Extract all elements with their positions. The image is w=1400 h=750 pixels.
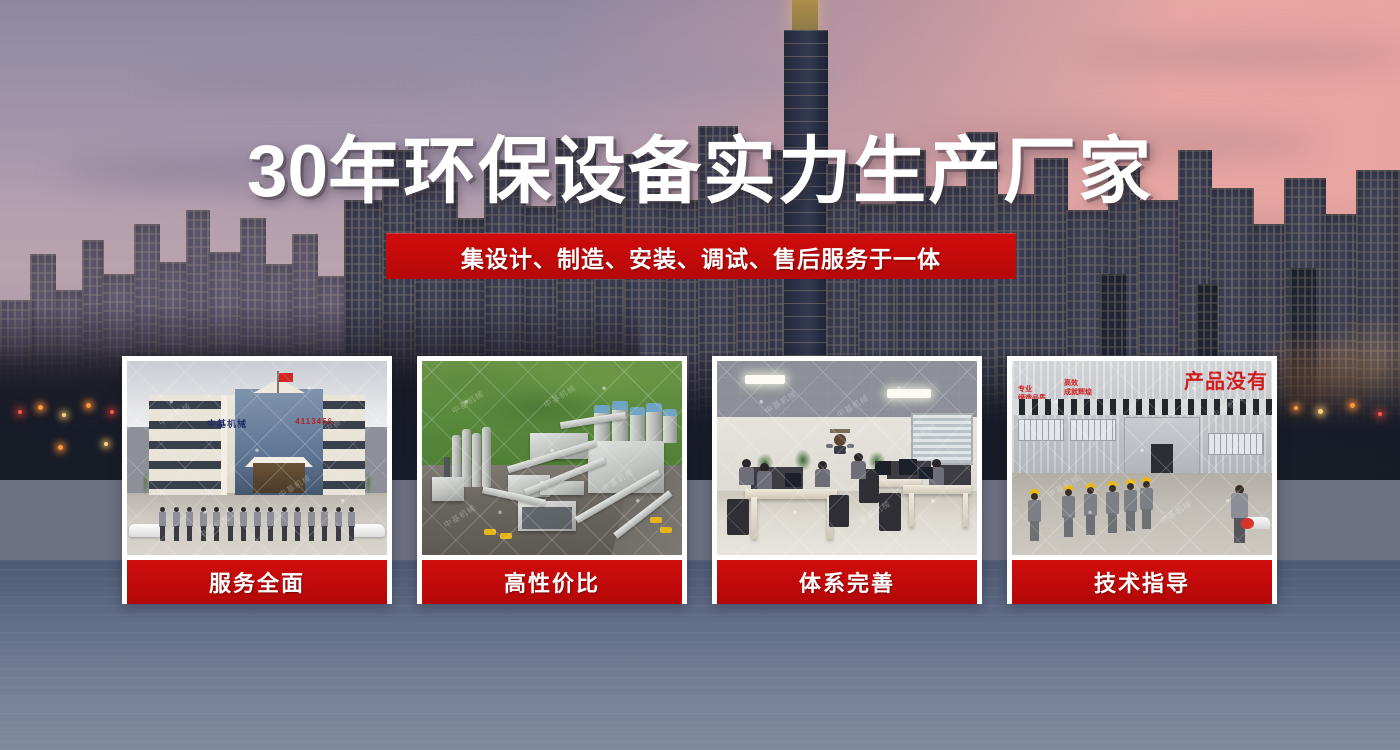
card-caption-bar: 服务全面 — [127, 560, 387, 604]
company-headquarters-photo: 中基机械 4113456 — [127, 361, 387, 555]
feature-card[interactable]: 产品没有 专业缔造品质 高效成就辉煌 中基机械 — [1007, 356, 1277, 604]
technical-training-photo: 产品没有 专业缔造品质 高效成就辉煌 中基机械 — [1012, 361, 1272, 555]
card-caption-bar: 技术指导 — [1012, 560, 1272, 604]
headline-text: 年环保设备实力生产厂家 — [328, 131, 1153, 212]
subtitle-text: 集设计、制造、安装、调试、售后服务于一体 — [461, 240, 941, 274]
production-plant-aerial-photo: 中基机械 中基机械 中基机械 中基机械 — [422, 361, 682, 555]
feature-card[interactable]: 中基机械 中基机械 中基机械 中基机械 体系完善 — [712, 356, 982, 604]
feature-card[interactable]: 中基机械 中基机械 中基机械 中基机械 高性价比 — [417, 356, 687, 604]
subtitle-banner: 集设计、制造、安装、调试、售后服务于一体 — [386, 233, 1016, 279]
card-caption-bar: 高性价比 — [422, 560, 682, 604]
tower-crown-lights — [792, 0, 818, 30]
building-phone-text: 4113456 — [295, 417, 333, 426]
card-caption-text: 服务全面 — [209, 566, 305, 598]
staff-row — [159, 507, 355, 541]
hero-banner: 30年环保设备实力生产厂家 集设计、制造、安装、调试、售后服务于一体 — [0, 0, 1400, 750]
factory-slogan-large: 产品没有 — [1184, 365, 1268, 394]
card-caption-text: 高性价比 — [504, 566, 600, 598]
feature-card-row: 中基机械 4113456 — [122, 356, 1278, 604]
card-caption-bar: 体系完善 — [717, 560, 977, 604]
headline-number: 30 — [247, 131, 328, 212]
feature-card[interactable]: 中基机械 4113456 — [122, 356, 392, 604]
red-helmet-icon — [1241, 518, 1254, 529]
page-title: 30年环保设备实力生产厂家 — [0, 134, 1400, 210]
card-caption-text: 技术指导 — [1094, 566, 1190, 598]
office-team-photo: 中基机械 中基机械 中基机械 中基机械 — [717, 361, 977, 555]
building-sign-text: 中基机械 — [207, 417, 247, 430]
card-caption-text: 体系完善 — [799, 566, 895, 598]
